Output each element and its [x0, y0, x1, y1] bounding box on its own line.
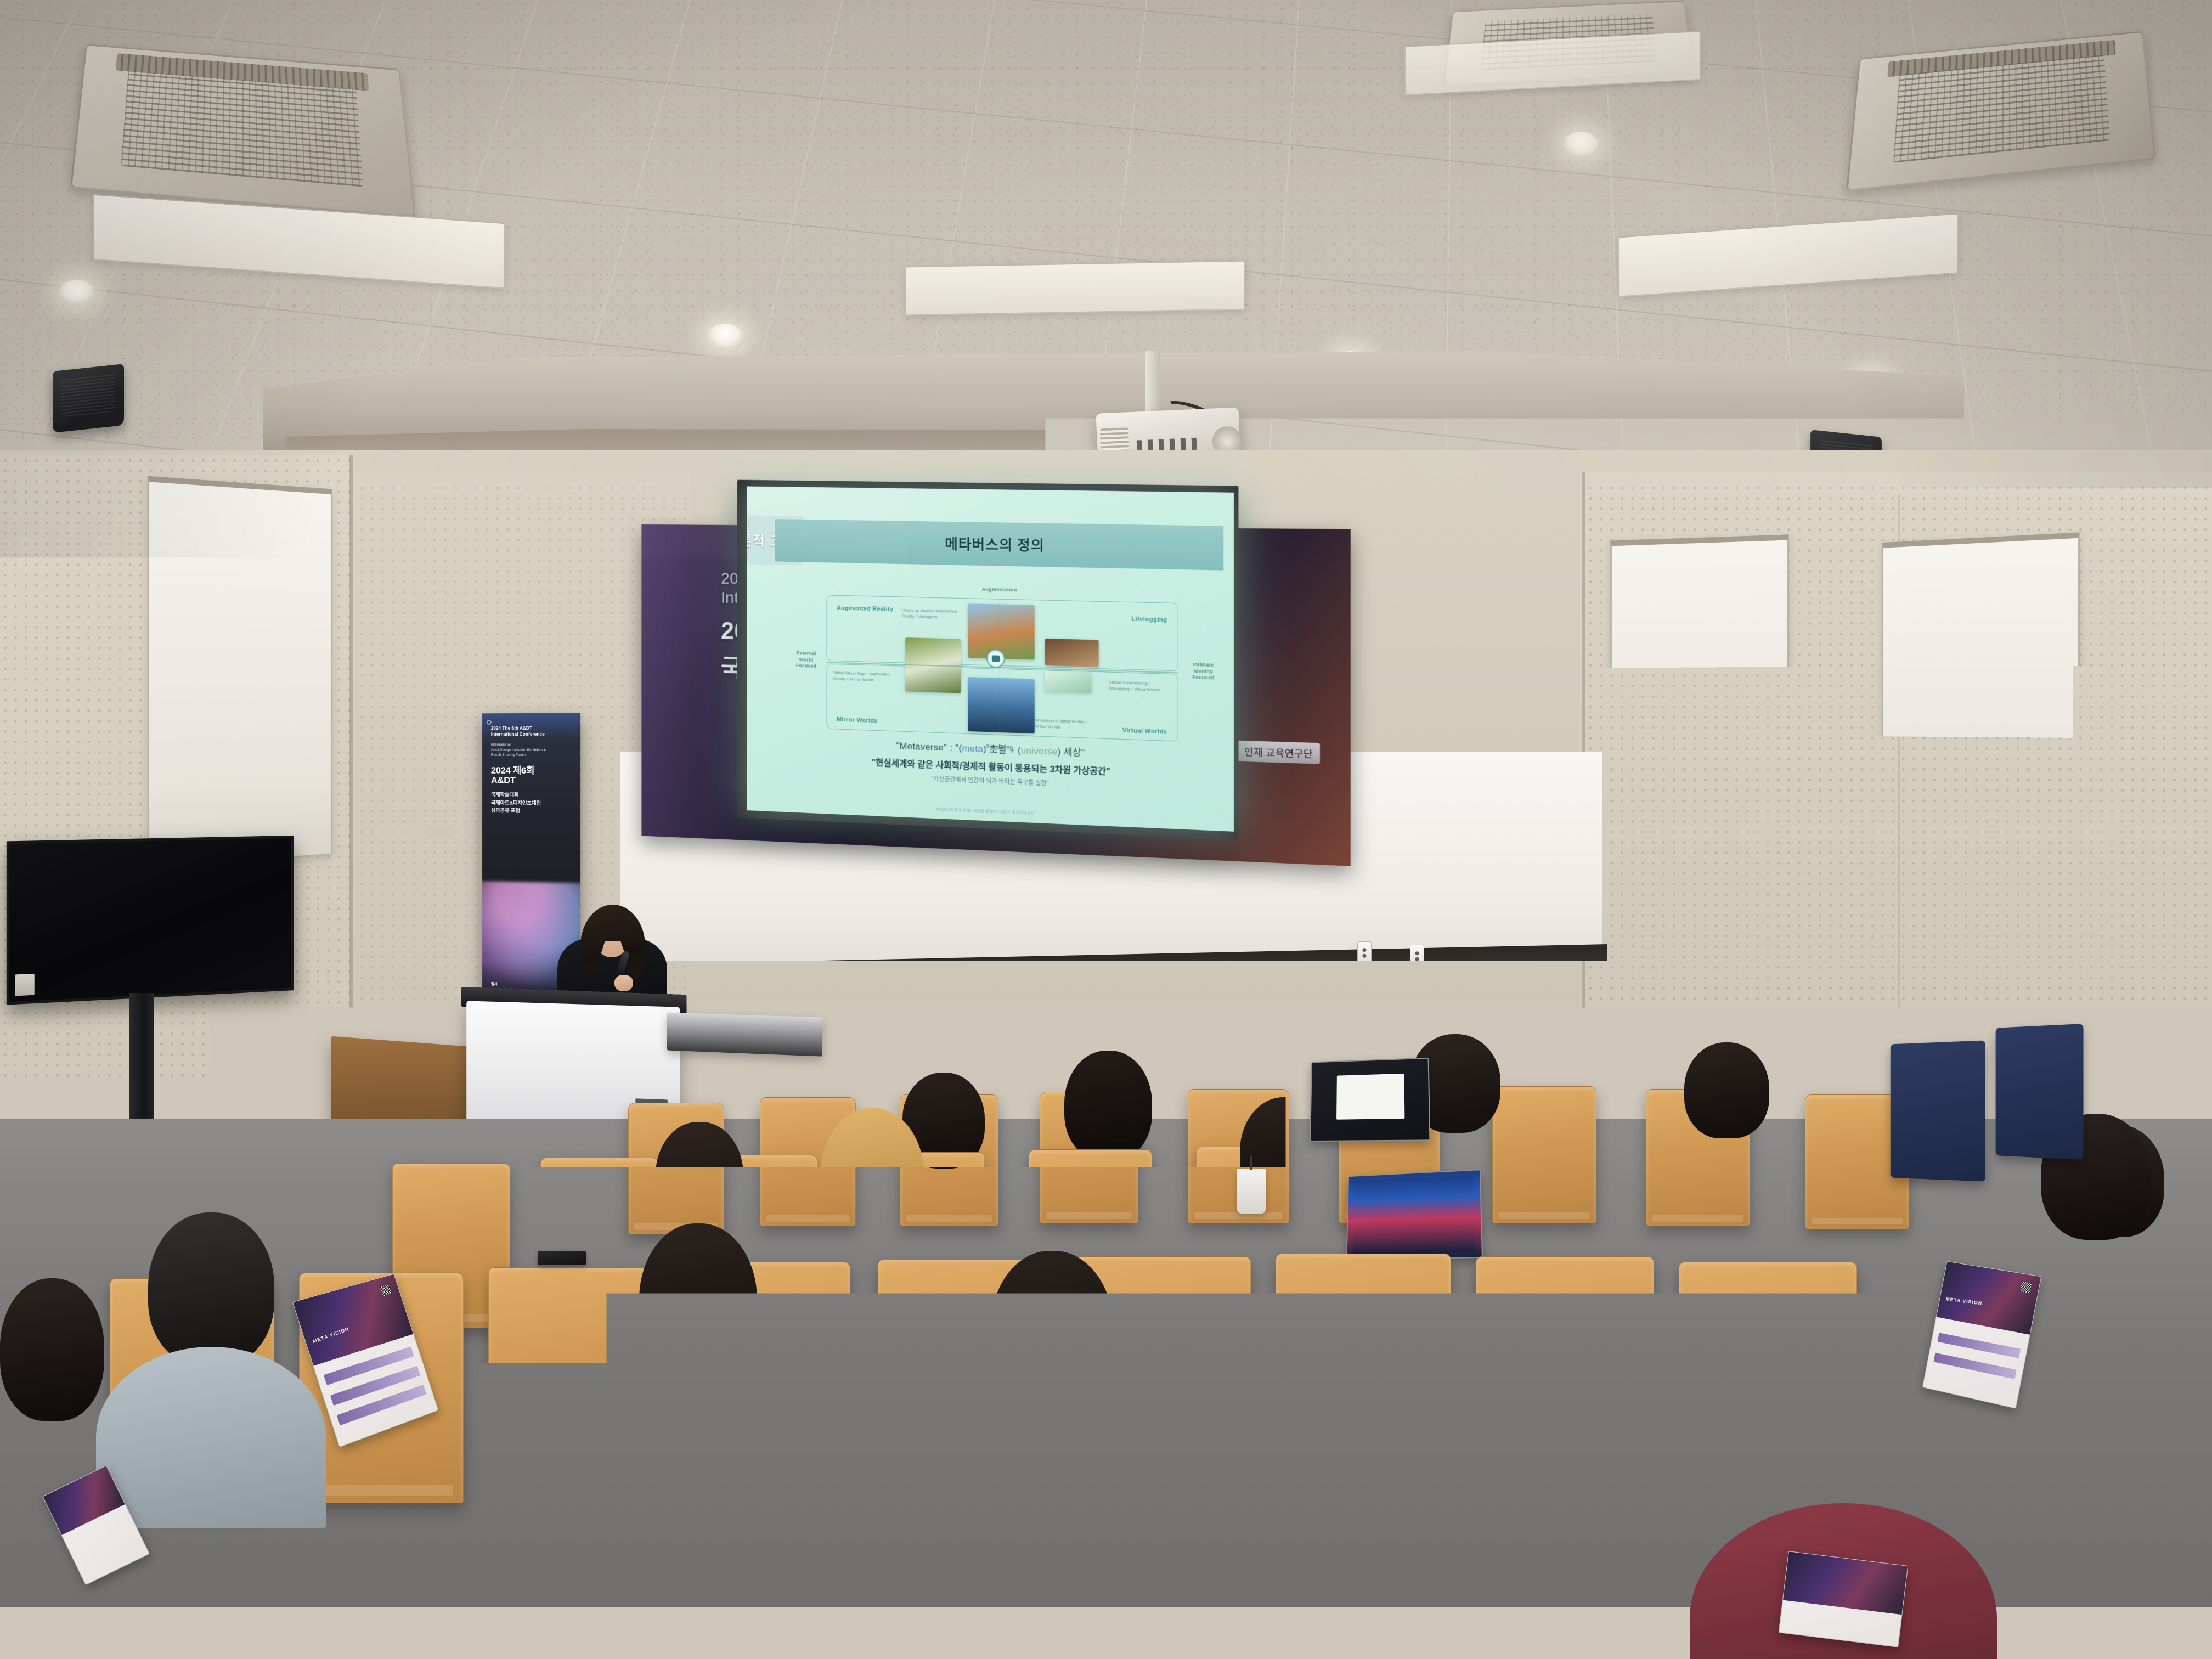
axis-label-top: Augmentation	[982, 586, 1017, 594]
quadrant-thumb-mirror-sea	[968, 677, 1035, 733]
audience-laptop[interactable]	[1346, 1169, 1483, 1260]
banner-kr-subtitle: 국제학술대회 국제아트&디자인초대전 성과공유 포럼	[491, 792, 573, 816]
axis-label-left: External World Focused	[796, 651, 817, 669]
banner-en-title-2: International Conference	[491, 732, 545, 737]
caption-meta-word: meta	[962, 743, 983, 754]
caption-mid: ) 초월 + (	[983, 744, 1021, 756]
round-side-table	[2101, 1075, 2211, 1136]
audience-shoulders	[612, 1361, 785, 1481]
wall-seam	[350, 455, 353, 1114]
axis-left-3: Focused	[796, 663, 817, 669]
wall-speaker	[53, 364, 124, 433]
wall-power-outlet[interactable]	[1410, 945, 1424, 968]
smartphone[interactable]	[1366, 1297, 1419, 1313]
audience-head	[148, 1212, 274, 1366]
axis-left-2: World	[799, 657, 814, 663]
flag-cloth	[2079, 1007, 2145, 1084]
projection-screen: 이론적 고찰 메타버스의 정의 Augmentation Simulation …	[747, 486, 1234, 831]
seat-number-plate: B 34	[753, 1496, 778, 1502]
banner-kr-big-2: A&DT	[491, 775, 516, 786]
banner-en-subtitle: International Arts&Design Invitation Exh…	[491, 742, 573, 758]
booklet-row	[1937, 1333, 2021, 1358]
audience-shoulders	[964, 1396, 1142, 1522]
audience-head	[1064, 1051, 1152, 1160]
backdrop-right-label: 인재 교육연구단	[1237, 741, 1320, 764]
program-booklet[interactable]	[1779, 1551, 1909, 1647]
ceiling-light-panel	[905, 261, 1245, 316]
audience-head	[990, 1251, 1114, 1415]
presenter-hand	[614, 975, 633, 991]
quadrant-desc-virtual: Simulation of Mirror Worlds / Virtual Wo…	[1035, 718, 1096, 732]
quadrant-thumb-vr-avatar	[1045, 671, 1091, 693]
banner-date-label: 일시	[491, 982, 498, 986]
auditorium-chair[interactable]	[1476, 1256, 1654, 1500]
quadrant-label-augmented-reality: Augmented Reality	[837, 605, 893, 612]
banner-kr-title: 2024 제6회 A&DT	[491, 765, 573, 786]
banner-kr-sub-2: 국제아트&디자인초대전	[491, 800, 541, 806]
av-control-console[interactable]	[667, 1013, 822, 1057]
quadrant-label-lifelogging: Lifelogging	[1131, 616, 1167, 624]
banner-en-sub-3: Result-Sharing Forum	[491, 753, 526, 757]
presentation-slide: 이론적 고찰 메타버스의 정의 Augmentation Simulation …	[747, 486, 1234, 831]
quadrant-desc-mirror: Virtual Mirror Map + Augmented Reality +…	[833, 670, 892, 684]
audience-head	[656, 1122, 743, 1232]
side-chair[interactable]	[1891, 1040, 1985, 1181]
banner-kr-big-1: 2024 제6회	[491, 765, 534, 775]
ceiling-ac-unit	[70, 44, 416, 218]
ac-grille	[121, 70, 364, 187]
axis-right-2: Identity	[1194, 668, 1214, 674]
quadrant-center-hub-icon	[986, 649, 1005, 668]
wall-whiteboard-left	[148, 476, 332, 868]
audience-head	[1734, 1100, 1827, 1210]
projector-mount-pole	[1145, 351, 1160, 417]
wall-whiteboard-right-2	[1882, 532, 2080, 888]
axis-right-1: Intimate	[1193, 662, 1214, 668]
auditorium-chair[interactable]	[1276, 1254, 1451, 1495]
smartphone[interactable]	[538, 1251, 586, 1265]
qr-code-icon	[2020, 1282, 2032, 1293]
banner-en-sub-2: Arts&Design Invitation Exhibition &	[491, 748, 546, 752]
axis-label-right: Intimate Identity Focused	[1192, 662, 1214, 681]
quadrant-desc-ar: Heads-up display / Augmented Reality / L…	[902, 607, 961, 620]
banner-en-sub-1: International	[491, 743, 511, 747]
audience-head-blonde	[820, 1108, 924, 1251]
banner-grommet	[487, 720, 492, 725]
wall-whiteboard-right-1	[1610, 534, 1789, 875]
audience-head	[0, 1278, 104, 1421]
slide-title: 메타버스의 정의	[945, 533, 1045, 555]
ceiling-downlight	[1564, 132, 1599, 156]
wall-tv-display[interactable]	[7, 836, 294, 1005]
banner-kr-sub-1: 국제학술대회	[491, 792, 519, 798]
metaverse-quadrant-diagram: Augmentation Simulation External World F…	[826, 595, 1178, 742]
quadrant-desc-lifelogging: Virtual Conferencing / Lifelogging + Vir…	[1109, 680, 1171, 694]
caption-universe-word: universe	[1021, 745, 1058, 757]
tv-energy-label	[15, 974, 34, 996]
slide-title-band: 메타버스의 정의	[775, 519, 1223, 570]
wall-power-outlet[interactable]	[1357, 941, 1372, 964]
banner-kr-sub-3: 성과공유 포럼	[491, 808, 520, 814]
drink-cup[interactable]	[1237, 1169, 1266, 1214]
side-chair[interactable]	[1996, 1024, 2084, 1160]
axis-right-3: Focused	[1192, 674, 1214, 680]
caption-pre: "Metaverse" : "(	[896, 741, 962, 753]
audience-laptop[interactable]	[1310, 1058, 1430, 1142]
slide-captions: "Metaverse" : "(meta) 초월 + (universe) 세상…	[775, 733, 1214, 794]
banner-en-title-1: 2024 The 6th A&DT	[491, 726, 532, 731]
banner-en-title: 2024 The 6th A&DT International Conferen…	[491, 725, 573, 737]
axis-left-1: External	[796, 651, 816, 657]
caption-post: ) 세상"	[1058, 747, 1085, 758]
laptop-screen-content	[1353, 1175, 1474, 1255]
audience-shoulders	[96, 1347, 326, 1528]
audience-head	[639, 1223, 757, 1383]
booklet-row	[1933, 1353, 2017, 1379]
lecture-hall-photo: 2024 The 6th A&DT International Conferen…	[0, 0, 2212, 1659]
audience-head	[1750, 1311, 1931, 1531]
ceiling-downlight	[59, 280, 94, 304]
laptop-screen-content	[1317, 1063, 1423, 1136]
ceiling-downlight	[708, 324, 743, 348]
quadrant-thumb-lifelog	[1045, 639, 1098, 668]
